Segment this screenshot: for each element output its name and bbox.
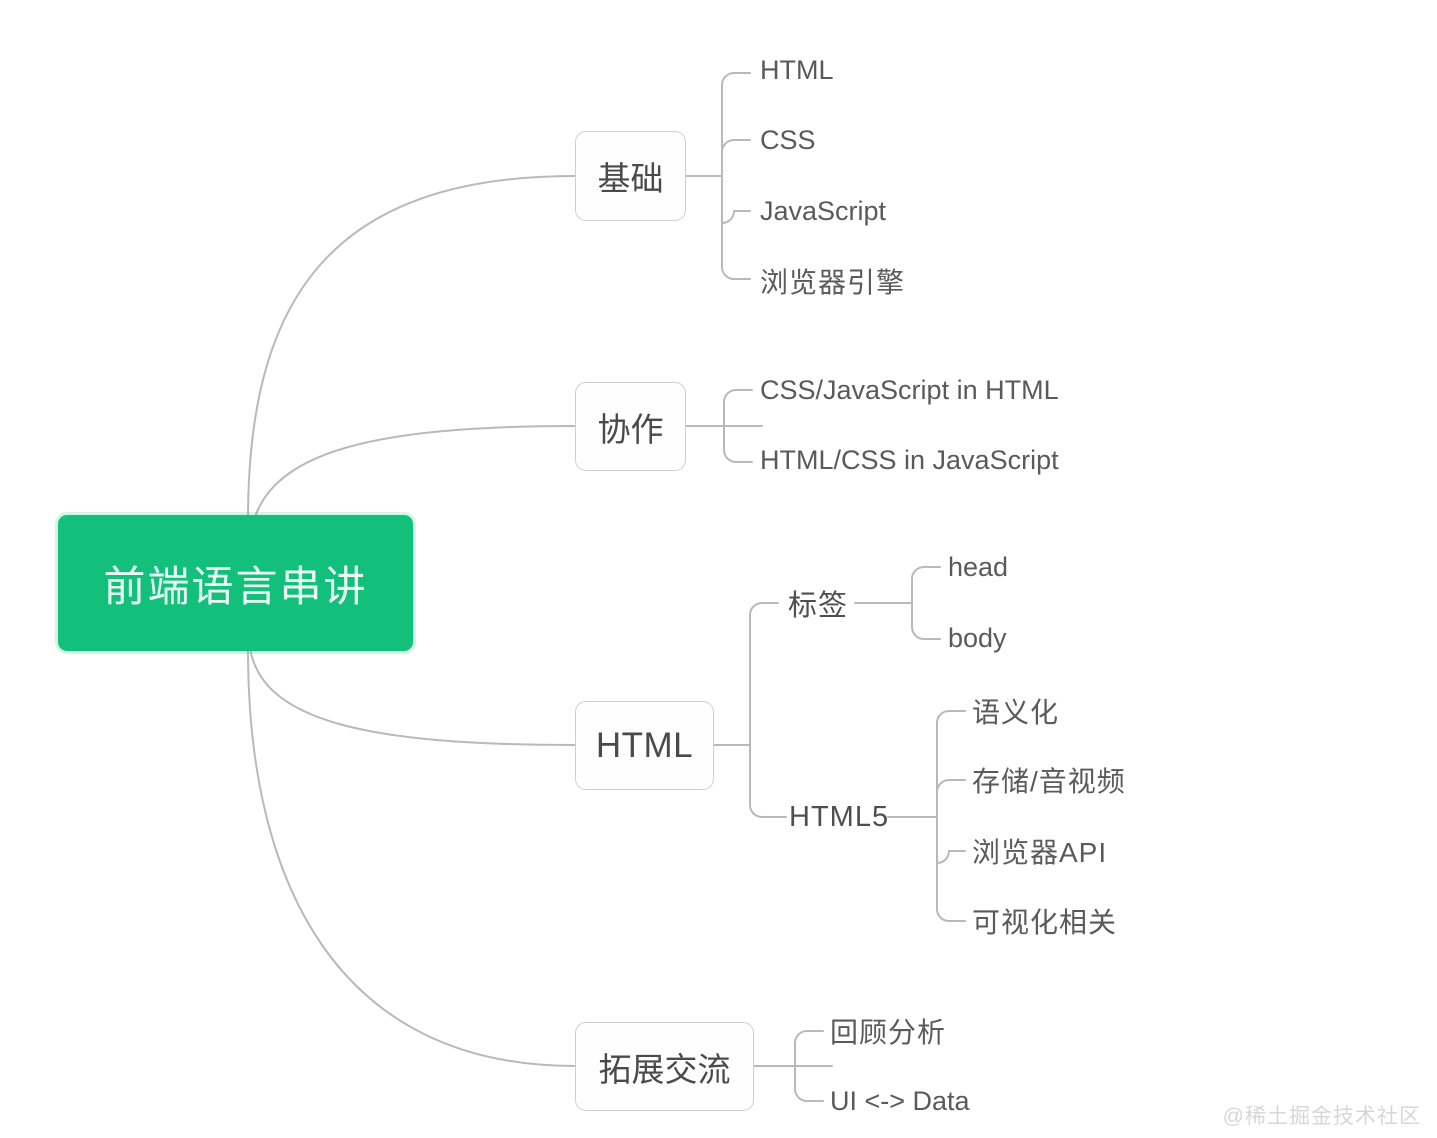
leaf-tags-body[interactable]: body [948, 621, 1007, 655]
branch-node-basics[interactable]: 基础 [575, 131, 686, 221]
leaf-label: 回顾分析 [830, 1011, 946, 1051]
leaf-basics-html[interactable]: HTML [760, 53, 834, 87]
leaf-label: head [948, 552, 1008, 583]
subnode-label: HTML5 [789, 801, 889, 834]
branch-node-html-label: HTML [596, 726, 693, 766]
elbow-html5-storage [937, 780, 965, 792]
mindmap-canvas: 前端语言串讲 基础 HTML CSS JavaScript 浏览器引擎 协作 C… [0, 0, 1437, 1138]
leaf-label: 浏览器引擎 [760, 261, 905, 301]
leaf-label: 语义化 [972, 691, 1059, 731]
spine-tags [912, 567, 940, 639]
branch-node-collaboration-label: 协作 [598, 403, 664, 451]
leaf-label: 存储/音视频 [972, 760, 1126, 800]
branch-node-extension[interactable]: 拓展交流 [575, 1022, 754, 1111]
leaf-tags-head[interactable]: head [948, 550, 1008, 584]
leaf-extension-ui-data[interactable]: UI <-> Data [830, 1084, 970, 1118]
leaf-label: HTML [760, 55, 834, 86]
subnode-html-html5[interactable]: HTML5 [789, 799, 889, 835]
spine-html [750, 603, 786, 817]
leaf-label: 浏览器API [972, 831, 1107, 871]
leaf-extension-review-analysis[interactable]: 回顾分析 [830, 1014, 946, 1048]
subnode-html-tags[interactable]: 标签 [788, 585, 848, 621]
leaf-label: UI <-> Data [830, 1086, 970, 1117]
watermark: @稀土掘金技术社区 [1223, 1100, 1421, 1130]
leaf-basics-css[interactable]: CSS [760, 123, 816, 157]
elbow-html5-api [937, 851, 965, 863]
branch-node-basics-label: 基础 [598, 152, 664, 200]
leaf-label: CSS/JavaScript in HTML [760, 375, 1059, 406]
root-node[interactable]: 前端语言串讲 [58, 515, 413, 651]
spine-basics [722, 73, 750, 279]
spine-collaboration [724, 390, 752, 462]
leaf-label: HTML/CSS in JavaScript [760, 445, 1059, 476]
leaf-collaboration-css-js-in-html[interactable]: CSS/JavaScript in HTML [760, 373, 1059, 407]
subnode-label: 标签 [788, 582, 848, 624]
leaf-collaboration-html-css-in-js[interactable]: HTML/CSS in JavaScript [760, 443, 1059, 477]
leaf-html5-browser-api[interactable]: 浏览器API [972, 834, 1107, 868]
leaf-label: 可视化相关 [972, 901, 1117, 941]
elbow-basics-js [722, 211, 750, 223]
leaf-basics-javascript[interactable]: JavaScript [760, 194, 886, 228]
curve-root-to-basics [248, 176, 575, 520]
spine-extension [795, 1031, 823, 1101]
leaf-label: CSS [760, 125, 816, 156]
leaf-basics-browser-engine[interactable]: 浏览器引擎 [760, 264, 905, 298]
leaf-html5-storage-media[interactable]: 存储/音视频 [972, 763, 1126, 797]
leaf-html5-semantics[interactable]: 语义化 [972, 694, 1059, 728]
root-node-label: 前端语言串讲 [103, 553, 367, 614]
watermark-label: @稀土掘金技术社区 [1223, 1105, 1421, 1128]
leaf-html5-visualization[interactable]: 可视化相关 [972, 904, 1117, 938]
curve-root-to-extension [248, 650, 575, 1066]
branch-node-extension-label: 拓展交流 [599, 1043, 731, 1091]
leaf-label: JavaScript [760, 196, 886, 227]
curve-root-to-html [250, 648, 575, 745]
spine-html5 [937, 711, 965, 921]
leaf-label: body [948, 623, 1007, 654]
branch-node-collaboration[interactable]: 协作 [575, 382, 686, 471]
branch-node-html[interactable]: HTML [575, 701, 714, 790]
elbow-basics-css [722, 140, 750, 152]
